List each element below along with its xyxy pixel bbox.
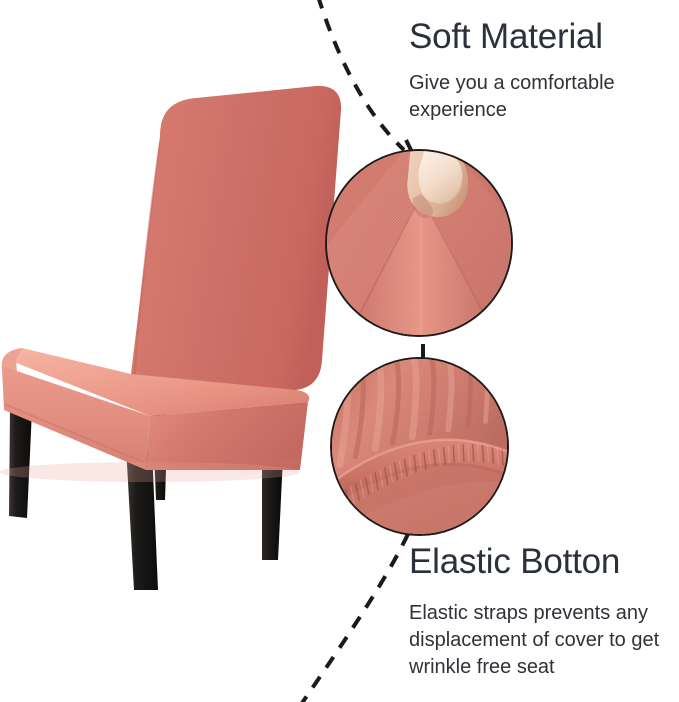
elastic-hem-photo (332, 359, 507, 534)
feature-title-elastic-botton: Elastic Botton (409, 541, 675, 583)
chair-leg-front-left (9, 408, 32, 518)
feature-description-soft-material: Give you a comfortable experience (409, 70, 671, 124)
chair-backrest (131, 86, 341, 396)
product-photo-chair (0, 0, 345, 702)
infographic-canvas: Soft Material Give you a comfortable exp… (0, 0, 679, 702)
feature-title-soft-material: Soft Material (409, 16, 671, 58)
detail-circle-soft-material (325, 149, 513, 337)
feature-block-soft-material: Soft Material Give you a comfortable exp… (409, 16, 671, 124)
chair-shadow (0, 462, 300, 482)
feature-description-elastic-botton: Elastic straps prevents any displacement… (409, 600, 675, 681)
fabric-pinch-photo (327, 151, 511, 335)
detail-circle-elastic-botton (330, 357, 509, 536)
chair-illustration (0, 0, 345, 702)
feature-block-elastic-botton: Elastic Botton Elastic straps prevents a… (409, 541, 675, 681)
